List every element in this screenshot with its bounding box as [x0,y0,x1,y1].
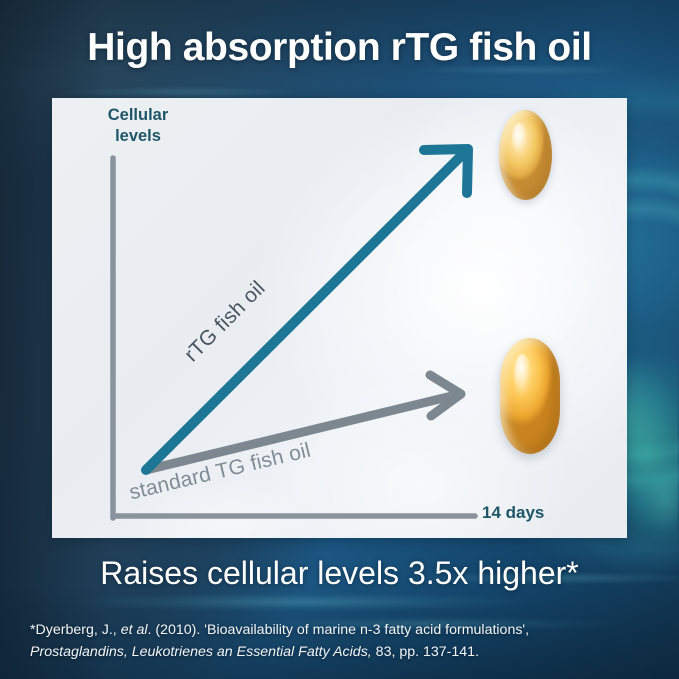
softgel-capsule-small [499,110,552,200]
y-axis-label: Cellular levels [78,105,198,147]
tagline: Raises cellular levels 3.5x higher* [0,555,679,592]
y-axis-label-line1: Cellular [108,106,169,124]
y-axis-label-line2: levels [115,127,161,145]
footnote-journal: Prostaglandins, Leukotrienes an Essentia… [30,644,372,660]
footnote-etal: et al [121,622,148,638]
x-axis-label: 14 days [482,503,544,523]
page-title: High absorption rTG fish oil [0,26,679,70]
rtg-arrow [146,149,468,470]
footnote-middle: . (2010). 'Bioavailability of marine n-3… [148,622,530,638]
chart-panel: Cellular levels 14 days rTG fish oil sta… [52,98,627,538]
footnote-pages: 83, pp. 137-141. [372,644,479,660]
footnote-prefix: *Dyerberg, J., [30,622,121,638]
softgel-capsule-large [500,338,560,454]
infographic-canvas: High absorption rTG fish oil Cellular le… [0,0,679,679]
footnote-citation: *Dyerberg, J., et al. (2010). 'Bioavaila… [30,620,660,663]
